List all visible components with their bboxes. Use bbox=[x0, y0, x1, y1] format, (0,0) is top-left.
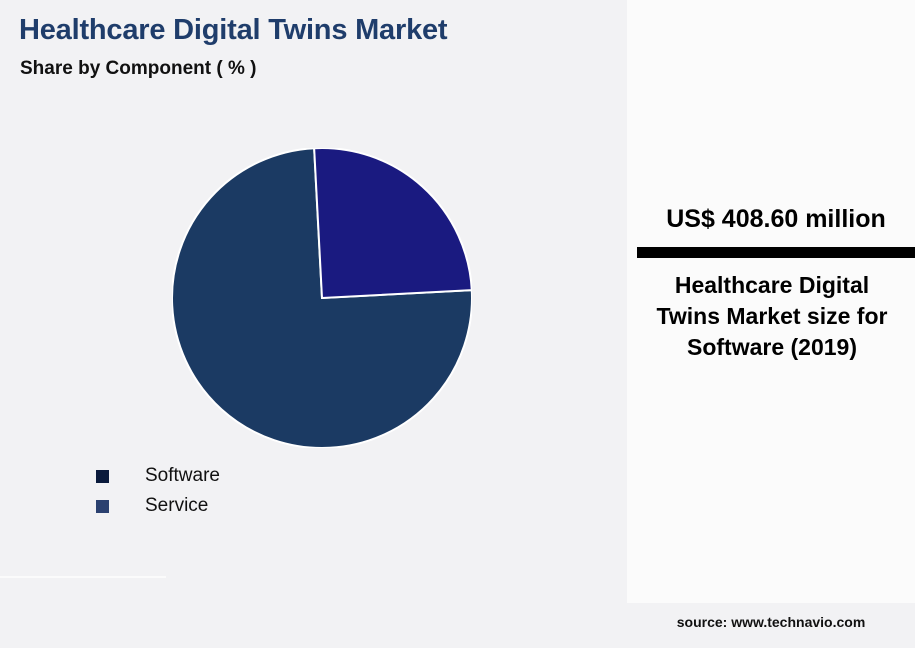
legend-item-service[interactable]: Service bbox=[96, 491, 220, 521]
page-title: Healthcare Digital Twins Market bbox=[19, 14, 447, 47]
pie-chart-svg bbox=[172, 148, 472, 448]
pie-chart bbox=[172, 148, 472, 448]
legend-label-service: Service bbox=[145, 495, 208, 517]
callout-panel: US$ 408.60 million Healthcare Digital Tw… bbox=[627, 0, 915, 603]
source-note: source: www.technavio.com bbox=[627, 614, 915, 630]
legend-item-software[interactable]: Software bbox=[96, 461, 220, 491]
chart-legend: Software Service bbox=[96, 461, 220, 521]
legend-swatch-software bbox=[96, 470, 109, 483]
pie-slice-software[interactable] bbox=[314, 148, 472, 298]
callout-description: Healthcare Digital Twins Market size for… bbox=[643, 270, 901, 363]
chart-panel: Healthcare Digital Twins Market Share by… bbox=[0, 0, 627, 648]
callout-value: US$ 408.60 million bbox=[637, 205, 915, 234]
baseline-divider bbox=[0, 576, 166, 578]
legend-label-software: Software bbox=[145, 465, 220, 487]
callout-divider bbox=[637, 247, 915, 258]
chart-subtitle: Share by Component ( % ) bbox=[20, 58, 256, 80]
legend-swatch-service bbox=[96, 500, 109, 513]
